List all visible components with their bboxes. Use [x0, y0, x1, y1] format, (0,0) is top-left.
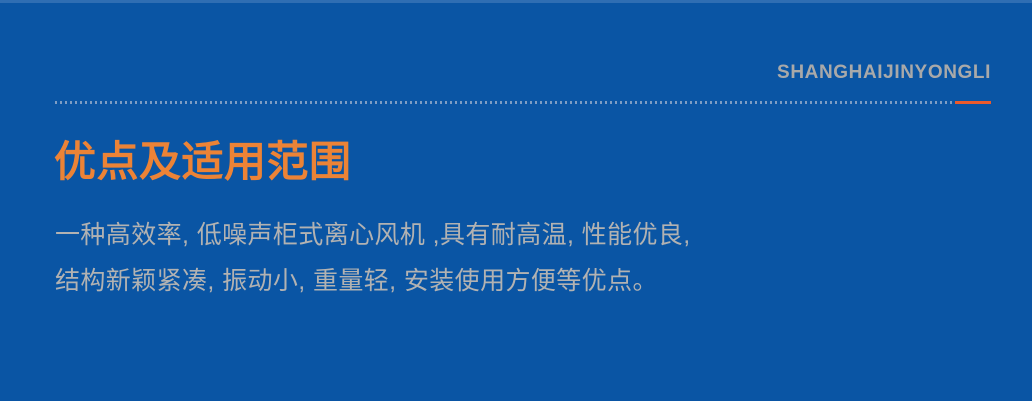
section-description: 一种高效率, 低噪声柜式离心风机 ,具有耐高温, 性能优良, 结构新颖紧凑, 振…	[55, 212, 955, 304]
divider-accent-line	[955, 101, 991, 104]
description-line: 结构新颖紧凑, 振动小, 重量轻, 安装使用方便等优点。	[55, 258, 955, 304]
top-edge-strip	[0, 0, 1032, 3]
divider-dotted-line	[55, 101, 955, 104]
brand-name: SHANGHAIJINYONGLI	[777, 60, 991, 86]
section-title: 优点及适用范围	[54, 136, 352, 188]
description-line: 一种高效率, 低噪声柜式离心风机 ,具有耐高温, 性能优良,	[55, 212, 955, 258]
promo-banner: SHANGHAIJINYONGLI 优点及适用范围 一种高效率, 低噪声柜式离心…	[0, 0, 1032, 401]
divider	[55, 101, 991, 104]
